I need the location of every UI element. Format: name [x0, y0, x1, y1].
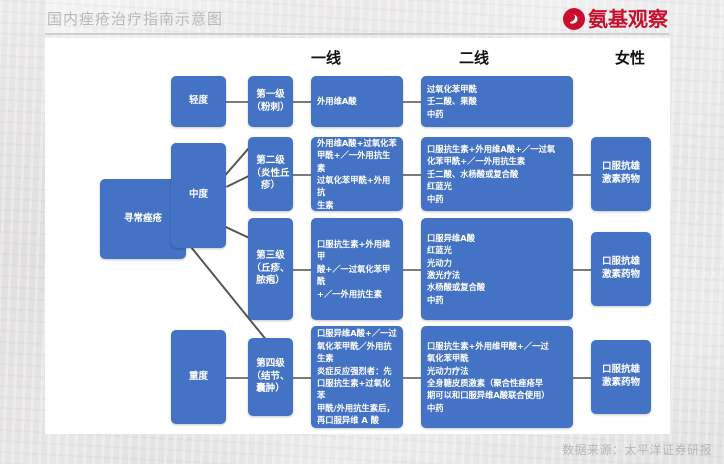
node-text-line: 第一级: [250, 89, 291, 102]
node-female-2[interactable]: 口服抗雄激素药物: [591, 137, 651, 211]
node-text-line: 第三级: [250, 250, 291, 263]
column-header-first-line: 一线: [311, 47, 341, 68]
node-second-line-4-label: 口服抗生素+外用维甲酸+／一过氧化苯甲酰光动力疗法全身糖皮质激素（聚合性痤疮早期…: [427, 340, 567, 415]
node-grade-1[interactable]: 第一级（粉刺）: [248, 76, 293, 127]
node-grade-4[interactable]: 第四级（结节、囊肿）: [248, 338, 293, 416]
node-text-line: 生素: [317, 199, 397, 211]
node-text-line: 囊肿）: [250, 383, 291, 396]
node-text-line: +／一外用抗生素: [317, 288, 397, 300]
node-text-line: 口服抗生素+外用维甲酸+／一过: [427, 340, 567, 352]
node-text-line: 第二级: [250, 155, 291, 168]
node-grade-3[interactable]: 第三级（丘疹、脓疱）: [248, 218, 293, 320]
node-second-line-1-label: 过氧化苯甲酰壬二酸、果酸中药: [427, 83, 567, 120]
node-severity-mild[interactable]: 轻度: [171, 76, 226, 127]
node-text-line: 红蓝光: [427, 180, 567, 192]
connector-sl3-fm3: [573, 269, 591, 271]
connector-moderate-g2: [226, 175, 250, 188]
node-text-line: 脓疱）: [250, 275, 291, 288]
node-grade-3-label: 第三级（丘疹、脓疱）: [250, 250, 291, 288]
node-text-line: 生素: [317, 352, 397, 364]
brand-logo: 氨基观察: [563, 5, 668, 33]
node-text-line: 期可以和口服异维A酸联合使用）: [427, 389, 567, 401]
node-text-line: 光动力疗法: [427, 365, 567, 377]
node-text-line: 激素药物: [593, 377, 649, 390]
node-first-line-1-label: 外用维A酸: [317, 95, 397, 107]
node-first-line-4[interactable]: 口服异维A酸+／一过氧化苯甲酰／外用抗生素炎症反应强烈者：先口服抗生素+过氧化苯…: [311, 326, 403, 428]
node-text-line: 口服抗雄: [593, 161, 649, 174]
node-text-line: 激素药物: [593, 174, 649, 187]
node-second-line-2[interactable]: 口服抗生素+外用维A酸+／一过氧化苯甲酰+／一外用抗生素壬二酸、水杨酸或复合酸红…: [421, 137, 573, 211]
node-first-line-3-label: 口服抗生素+外用维甲酸+／一过氧化苯甲酰+／一外用抗生素: [317, 238, 397, 300]
node-text-line: 壬二酸、果酸: [427, 95, 567, 107]
node-text-line: 第四级: [250, 358, 291, 371]
node-female-4-label: 口服抗雄激素药物: [593, 364, 649, 390]
connector-g1-fl1: [293, 101, 311, 103]
node-female-3-label: 口服抗雄激素药物: [593, 256, 649, 282]
node-severity-moderate[interactable]: 中度: [171, 143, 226, 248]
node-text-line: 红蓝光: [427, 244, 567, 256]
node-text-line: 过氧化苯甲酰: [427, 83, 567, 95]
node-text-line: 氧化苯甲酰: [427, 352, 567, 364]
node-severity-severe-label: 重度: [173, 371, 224, 384]
connector-g3-fl3: [293, 269, 311, 271]
node-text-line: 过氧化苯甲酰+外用抗: [317, 174, 397, 199]
node-text-line: 中药: [427, 108, 567, 120]
node-text-line: （粉刺）: [250, 102, 291, 115]
connector-severe-g4: [226, 377, 248, 379]
connector-sl2-fm2: [573, 174, 591, 176]
node-text-line: （炎性丘: [250, 168, 291, 181]
node-second-line-2-label: 口服抗生素+外用维A酸+／一过氧化苯甲酰+／一外用抗生素壬二酸、水杨酸或复合酸红…: [427, 143, 567, 205]
node-text-line: 甲酰/外用抗生素后，: [317, 402, 397, 414]
node-text-line: 再口服异维 A 酸: [317, 414, 397, 426]
node-text-line: 口服异维A酸: [427, 232, 567, 244]
node-text-line: 酸+／一过氧化苯甲酰: [317, 263, 397, 288]
data-source: 数据来源：太平洋证券研报: [562, 441, 712, 458]
connector-mild-g1: [226, 101, 248, 103]
node-grade-2-label: 第二级（炎性丘疹）: [250, 155, 291, 193]
diagram-card: 一线 二线 女性 寻常痤疮 轻度 中度 重度 第一级（粉刺） 第二级（炎性丘疹）…: [45, 38, 670, 434]
connector-g4-fl4: [293, 377, 311, 379]
connector-fl1-sl1: [403, 101, 421, 103]
node-female-2-label: 口服抗雄激素药物: [593, 161, 649, 187]
node-first-line-3[interactable]: 口服抗生素+外用维甲酸+／一过氧化苯甲酰+／一外用抗生素: [311, 218, 403, 320]
node-text-line: 壬二酸、水杨酸或复合酸: [427, 168, 567, 180]
connector-g2-fl2: [293, 174, 311, 176]
node-text-line: （结节、: [250, 371, 291, 384]
column-header-female: 女性: [615, 47, 645, 68]
node-text-line: 光动力: [427, 257, 567, 269]
node-text-line: 全身糖皮质激素（聚合性痤疮早: [427, 377, 567, 389]
node-grade-1-label: 第一级（粉刺）: [250, 89, 291, 115]
header: 国内痤疮治疗指南示意图 氨基观察: [45, 6, 670, 36]
node-first-line-1[interactable]: 外用维A酸: [311, 76, 403, 127]
page-title: 国内痤疮治疗指南示意图: [47, 8, 223, 29]
node-text-line: 炎症反应强烈者：先: [317, 365, 397, 377]
node-text-line: 口服抗生素+过氧化苯: [317, 377, 397, 402]
column-header-second-line: 二线: [459, 47, 489, 68]
node-text-line: 中药: [427, 402, 567, 414]
brand-name: 氨基观察: [588, 9, 668, 29]
node-female-3[interactable]: 口服抗雄激素药物: [591, 232, 651, 306]
connector-fl2-sl2: [403, 174, 421, 176]
node-second-line-3-label: 口服异维A酸红蓝光光动力激光疗法水杨酸或复合酸中药: [427, 232, 567, 307]
node-text-line: 中药: [427, 193, 567, 205]
node-text-line: 甲酰+／一外用抗生素: [317, 149, 397, 174]
connector-fl3-sl3: [403, 269, 421, 271]
node-text-line: 口服异维A酸+／一过: [317, 327, 397, 339]
node-severity-moderate-label: 中度: [173, 189, 224, 202]
node-text-line: 口服抗雄: [593, 256, 649, 269]
node-text-line: （丘疹、: [250, 263, 291, 276]
node-text-line: 疹）: [250, 180, 291, 193]
node-text-line: 氧化苯甲酰／外用抗: [317, 340, 397, 352]
node-second-line-4[interactable]: 口服抗生素+外用维甲酸+／一过氧化苯甲酰光动力疗法全身糖皮质激素（聚合性痤疮早期…: [421, 326, 573, 428]
node-text-line: 口服抗生素+外用维A酸+／一过氧: [427, 143, 567, 155]
node-text-line: 外用维A酸: [317, 95, 397, 107]
circle-brand-icon: [563, 8, 585, 30]
node-text-line: 激光疗法: [427, 269, 567, 281]
node-text-line: 化苯甲酰+／一外用抗生素: [427, 155, 567, 167]
node-text-line: 口服抗生素+外用维甲: [317, 238, 397, 263]
node-severity-severe[interactable]: 重度: [171, 330, 226, 424]
node-first-line-2-label: 外用维A酸+过氧化苯甲酰+／一外用抗生素过氧化苯甲酰+外用抗生素: [317, 137, 397, 212]
node-severity-mild-label: 轻度: [173, 95, 224, 108]
title-underline: [45, 33, 669, 35]
background-strip: [0, 0, 46, 464]
node-grade-2[interactable]: 第二级（炎性丘疹）: [248, 137, 293, 211]
node-text-line: 水杨酸或复合酸: [427, 281, 567, 293]
connector-fl4-sl4: [403, 377, 421, 379]
node-female-4[interactable]: 口服抗雄激素药物: [591, 340, 651, 414]
node-grade-4-label: 第四级（结节、囊肿）: [250, 358, 291, 396]
node-second-line-1[interactable]: 过氧化苯甲酰壬二酸、果酸中药: [421, 76, 573, 127]
node-text-line: 口服抗雄: [593, 364, 649, 377]
node-text-line: 激素药物: [593, 269, 649, 282]
connector-sl4-fm4: [573, 377, 591, 379]
node-text-line: 外用维A酸+过氧化苯: [317, 137, 397, 149]
node-second-line-3[interactable]: 口服异维A酸红蓝光光动力激光疗法水杨酸或复合酸中药: [421, 218, 573, 320]
node-first-line-2[interactable]: 外用维A酸+过氧化苯甲酰+／一外用抗生素过氧化苯甲酰+外用抗生素: [311, 137, 403, 211]
node-first-line-4-label: 口服异维A酸+／一过氧化苯甲酰／外用抗生素炎症反应强烈者：先口服抗生素+过氧化苯…: [317, 327, 397, 427]
node-text-line: 中药: [427, 294, 567, 306]
